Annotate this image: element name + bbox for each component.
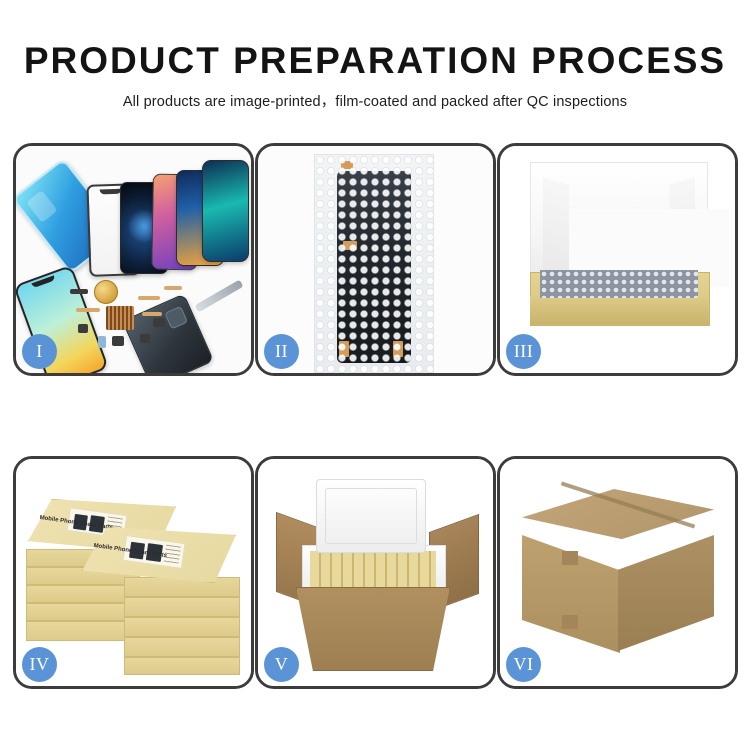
step-badge-1: I [22, 334, 57, 369]
process-step-panel-6: VI [497, 456, 738, 689]
step-badge-2: II [264, 334, 299, 369]
copper-coil-icon [94, 280, 118, 304]
step-badge-3: III [506, 334, 541, 369]
process-step-grid: I II [13, 143, 739, 689]
carton-tab-upper-icon [562, 551, 578, 565]
step-badge-4: IV [22, 647, 57, 682]
connector-grid-icon [106, 306, 134, 330]
bubble-wrap-bag-icon [314, 154, 434, 373]
process-step-panel-3: III [497, 143, 738, 376]
outer-carton-icon [296, 587, 450, 671]
process-step-panel-5: V [255, 456, 496, 689]
page-header: PRODUCT PREPARATION PROCESS All products… [0, 0, 750, 111]
phone-display-teal-icon [202, 160, 249, 262]
page-subtitle: All products are image-printed，film-coat… [0, 90, 750, 111]
product-preparation-page: PRODUCT PREPARATION PROCESS All products… [0, 0, 750, 750]
step-badge-6: VI [506, 647, 541, 682]
carton-tab-lower-icon [562, 615, 578, 629]
box-lid-open-icon [530, 162, 708, 280]
step-badge-5: V [264, 647, 299, 682]
bubble-wrap-contents-icon [540, 270, 698, 298]
foam-lid-icon [316, 479, 426, 553]
box-stack-icon: Mobile Phone Spare Parts Mobile Phone Sp… [24, 475, 242, 675]
process-step-panel-1: I [13, 143, 254, 376]
page-title: PRODUCT PREPARATION PROCESS [0, 42, 750, 81]
process-step-panel-2: II [255, 143, 496, 376]
process-step-panel-4: Mobile Phone Spare Parts Mobile Phone Sp… [13, 456, 254, 689]
